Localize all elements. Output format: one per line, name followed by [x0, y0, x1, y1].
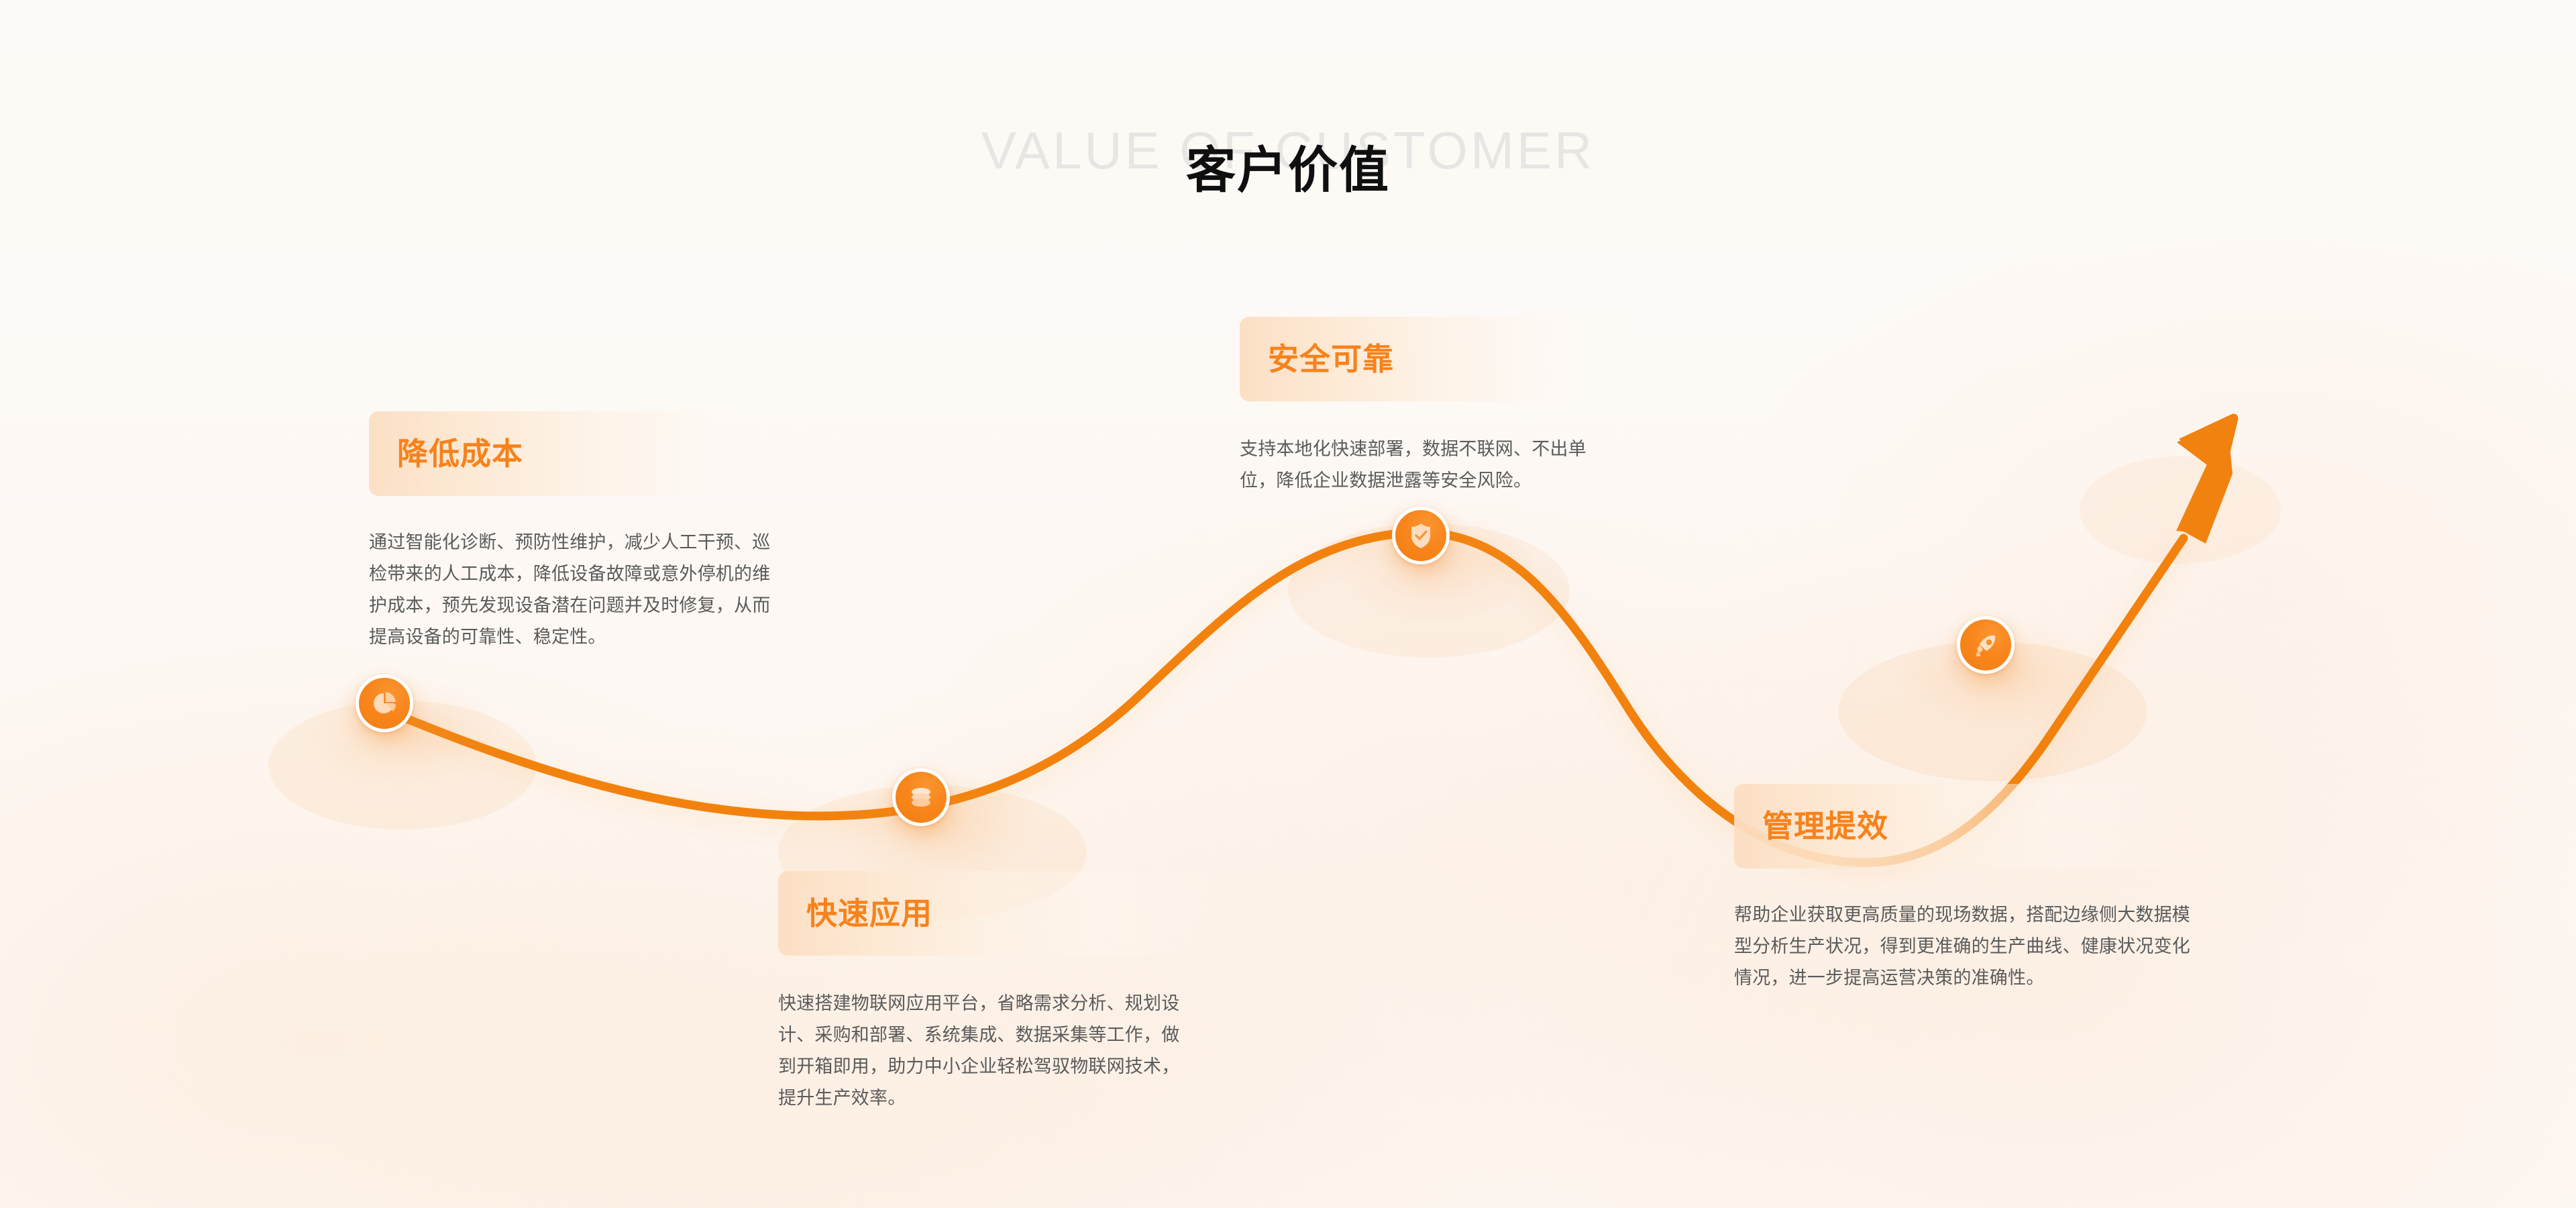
block-heading-apply: 快速应用: [778, 871, 1207, 956]
node-database-icon[interactable]: [892, 768, 950, 826]
block-heading-security: 安全可靠: [1240, 317, 1642, 401]
shield-check-icon: [1407, 521, 1434, 550]
block-heading-label: 快速应用: [806, 898, 932, 929]
rocket-icon: [1972, 631, 2000, 659]
block-heading-manage: 管理提效: [1734, 784, 2170, 868]
pie-chart-icon: [370, 689, 398, 717]
value-block-cost: 降低成本 通过智能化诊断、预防性维护，减少人工干预、巡检带来的人工成本，降低设备…: [369, 411, 818, 653]
value-block-manage: 管理提效 帮助企业获取更高质量的现场数据，搭配边缘侧大数据模型分析生产状况，得到…: [1734, 784, 2204, 994]
block-body-security: 支持本地化快速部署，数据不联网、不出单位，降低企业数据泄露等安全风险。: [1240, 434, 1615, 497]
value-block-security: 安全可靠 支持本地化快速部署，数据不联网、不出单位，降低企业数据泄露等安全风险。: [1240, 317, 1642, 497]
block-body-manage: 帮助企业获取更高质量的现场数据，搭配边缘侧大数据模型分析生产状况，得到更准确的生…: [1734, 899, 2204, 994]
node-rocket-icon[interactable]: [1957, 616, 2015, 674]
block-heading-label: 降低成本: [397, 438, 523, 469]
database-icon: [907, 783, 935, 811]
block-body-apply: 快速搭建物联网应用平台，省略需求分析、规划设计、采购和部署、系统集成、数据采集等…: [778, 988, 1194, 1114]
value-block-apply: 快速应用 快速搭建物联网应用平台，省略需求分析、规划设计、采购和部署、系统集成、…: [778, 871, 1207, 1114]
block-heading-label: 安全可靠: [1268, 344, 1394, 374]
block-heading-label: 管理提效: [1762, 811, 1888, 842]
node-pie-chart-icon[interactable]: [356, 674, 413, 732]
block-body-cost: 通过智能化诊断、预防性维护，减少人工干预、巡检带来的人工成本，降低设备故障或意外…: [369, 527, 785, 653]
block-heading-cost: 降低成本: [369, 411, 818, 496]
node-shield-check-icon[interactable]: [1392, 507, 1450, 564]
